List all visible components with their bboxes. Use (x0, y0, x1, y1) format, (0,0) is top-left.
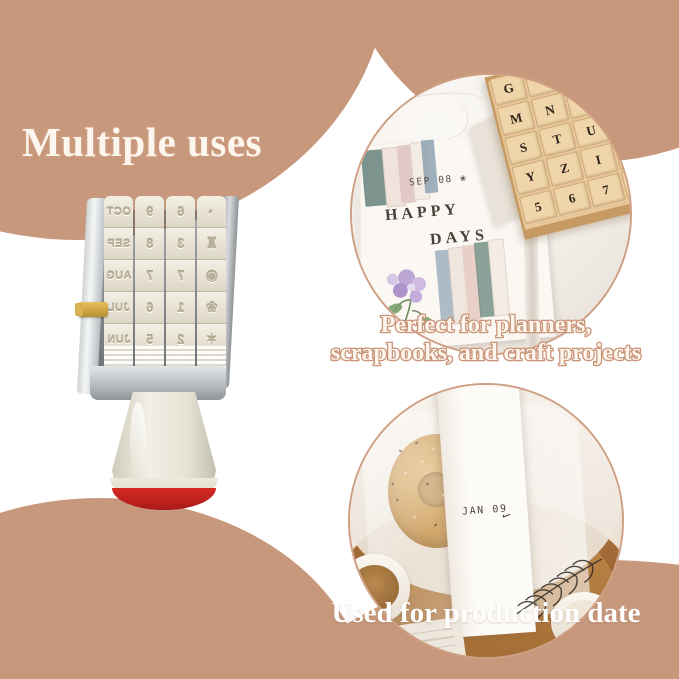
infographic-canvas: SEP 08 ❀ HAPPY DAYS (0, 0, 679, 679)
stamp-cube: U (572, 113, 611, 149)
middle-caption: Perfect for planners, scrapbooks, and cr… (300, 311, 672, 368)
stamp-digit-wheel-1[interactable]: 9 8 7 6 5 (135, 196, 164, 382)
wheel-cell: 7 (166, 260, 195, 292)
wheel-cell-icon: ◉ (197, 260, 226, 292)
wheel-cell: JUL (104, 292, 133, 324)
wheel-cell: 7 (135, 260, 164, 292)
bottom-caption: Used for production date (300, 597, 672, 630)
wheel-cell-icon: ❀ (197, 292, 226, 324)
page-title: Multiple uses (22, 118, 262, 166)
wheel-cell: 3 (166, 228, 195, 260)
wheel-cell: 6 (135, 292, 164, 324)
middle-caption-line-1: Perfect for planners, (300, 311, 672, 339)
stamp-knob-cap (75, 303, 83, 316)
stamp-cube: N (530, 92, 569, 128)
wheel-cell-icon: ♜ (197, 228, 226, 260)
stamp-cube: I (579, 142, 618, 178)
stamp-cube: Z (545, 151, 584, 187)
stamp-handle[interactable] (112, 392, 216, 492)
wheel-cell: OCT (104, 196, 133, 228)
middle-caption-line-2: scrapbooks, and craft projects (300, 339, 672, 367)
wheel-cell: AUG (104, 260, 133, 292)
stamp-icon-wheel[interactable]: ◔ ♜ ◉ ❀ ✶ (197, 196, 226, 382)
wheel-cell: 8 (135, 228, 164, 260)
stamp-cube: Y (511, 159, 550, 195)
stamp-cube: S (504, 130, 543, 166)
wheel-cell: 1 (166, 292, 195, 324)
stamp-cube: M (497, 100, 536, 136)
rolling-date-stamp-product: OCT SEP AUG JUL JUN 9 8 7 6 5 6 3 7 1 2 … (78, 190, 248, 510)
stamp-month-wheel[interactable]: OCT SEP AUG JUL JUN (104, 196, 133, 382)
wheel-cell: 6 (166, 196, 195, 228)
stamp-cube (598, 75, 630, 110)
stamp-handle-highlight (130, 402, 146, 480)
stamp-digit-wheel-2[interactable]: 6 3 7 1 2 (166, 196, 195, 382)
wheel-cell-icon: ◔ (197, 196, 226, 228)
wheel-cell: SEP (104, 228, 133, 260)
wheel-cell: 9 (135, 196, 164, 228)
stamp-red-base (112, 488, 216, 510)
stamp-cube: O (564, 83, 603, 119)
stamp-cube: T (538, 121, 577, 157)
